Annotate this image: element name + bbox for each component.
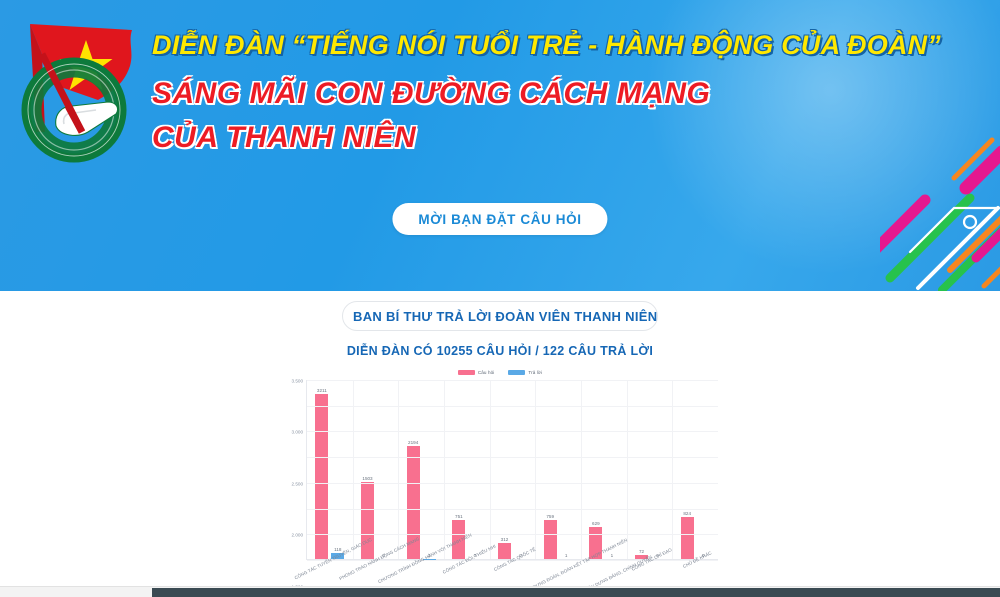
chart-plot-area: 3211118150302194275103120759162917208240… xyxy=(306,380,718,560)
bar-value-label: 759 xyxy=(546,514,554,519)
bar-fill xyxy=(498,543,511,559)
questions-by-topic-chart: Câu hỏiTrả lời 3211118150302194275103120… xyxy=(280,366,720,596)
banner-line-1: DIỄN ĐÀN “TIẾNG NÓI TUỔI TRẺ - HÀNH ĐỘNG… xyxy=(152,30,972,61)
chart-gridline: 500 xyxy=(307,534,718,535)
bar-value-label: 629 xyxy=(592,521,600,526)
page-banner: DIỄN ĐÀN “TIẾNG NÓI TUỔI TRẺ - HÀNH ĐỘNG… xyxy=(0,0,1000,291)
chart-vertical-gridline xyxy=(490,380,491,559)
youth-union-logo xyxy=(12,14,147,174)
legend-label: Câu hỏi xyxy=(478,370,495,375)
bar-groups: 3211118150302194275103120759162917208240 xyxy=(307,380,718,559)
chart-vertical-gridline xyxy=(353,380,354,559)
ask-question-button[interactable]: MỜI BẠN ĐẶT CÂU HỎI xyxy=(392,203,607,235)
chart-vertical-gridline xyxy=(581,380,582,559)
legend-label: Trả lời xyxy=(528,370,542,375)
chart-gridline: 1.000 xyxy=(307,509,718,510)
bar-group: 21942 xyxy=(398,380,444,559)
bar-group: 3211118 xyxy=(307,380,353,559)
horizontal-scrollbar[interactable] xyxy=(0,586,1000,597)
forum-stats-subtitle: DIỄN ĐÀN CÓ 10255 CÂU HỎI / 122 CÂU TRẢ … xyxy=(0,344,1000,358)
chart-vertical-gridline xyxy=(672,380,673,559)
bar-value-label: 824 xyxy=(683,511,691,516)
y-axis-tick-label: 2.500 xyxy=(292,481,304,486)
chart-gridline: 1.500 xyxy=(307,483,718,484)
banner-line-3: CỦA THANH NIÊN xyxy=(152,116,972,160)
chart-vertical-gridline xyxy=(535,380,536,559)
bar-group: 720 xyxy=(627,380,673,559)
bar-fill xyxy=(544,520,557,559)
bar-fill xyxy=(681,517,694,559)
main-content: BAN BÍ THƯ TRẢ LỜI ĐOÀN VIÊN THANH NIÊN … xyxy=(0,291,1000,597)
banner-headlines: DIỄN ĐÀN “TIẾNG NÓI TUỔI TRẺ - HÀNH ĐỘNG… xyxy=(152,30,972,159)
chart-legend: Câu hỏiTrả lời xyxy=(280,366,720,378)
y-axis-tick-label: 2.000 xyxy=(292,533,304,538)
bar-value-label: 1503 xyxy=(362,476,372,481)
banner-line-2: SÁNG MÃI CON ĐƯỜNG CÁCH MẠNG xyxy=(152,72,972,116)
bar-group: 8240 xyxy=(672,380,718,559)
decorative-stripes xyxy=(880,130,1000,291)
chart-gridline: 2.000 xyxy=(307,457,718,458)
section-title-pill: BAN BÍ THƯ TRẢ LỜI ĐOÀN VIÊN THANH NIÊN xyxy=(342,301,658,331)
legend-swatch-icon xyxy=(458,370,475,375)
bar-value-label: 751 xyxy=(455,514,463,519)
bar-group: 7510 xyxy=(444,380,490,559)
bar-value-label: 3211 xyxy=(317,388,327,393)
chart-gridline: 3.000 xyxy=(307,406,718,407)
chart-vertical-gridline xyxy=(444,380,445,559)
bar-value-label: 72 xyxy=(639,549,644,554)
chart-gridline: 3.500 xyxy=(307,380,718,381)
legend-item-questions[interactable]: Câu hỏi xyxy=(458,370,495,375)
bar-questions[interactable]: 824 xyxy=(681,517,694,559)
y-axis-tick-label: 3.500 xyxy=(292,379,304,384)
chart-vertical-gridline xyxy=(398,380,399,559)
bar-group: 7591 xyxy=(535,380,581,559)
horizontal-scrollbar-thumb[interactable] xyxy=(152,588,1000,597)
bar-value-label: 312 xyxy=(501,537,509,542)
bar-fill xyxy=(361,482,374,559)
legend-item-answers[interactable]: Trả lời xyxy=(508,370,542,375)
bar-group: 15030 xyxy=(353,380,399,559)
bar-group: 3120 xyxy=(490,380,536,559)
bar-questions[interactable]: 759 xyxy=(544,520,557,559)
bar-group: 6291 xyxy=(581,380,627,559)
y-axis-tick-label: 3.000 xyxy=(292,430,304,435)
legend-swatch-icon xyxy=(508,370,525,375)
bar-value-label: 2194 xyxy=(408,440,418,445)
chart-gridline: 2.500 xyxy=(307,431,718,432)
bar-questions[interactable]: 312 xyxy=(498,543,511,559)
bar-questions[interactable]: 1503 xyxy=(361,482,374,559)
chart-vertical-gridline xyxy=(627,380,628,559)
